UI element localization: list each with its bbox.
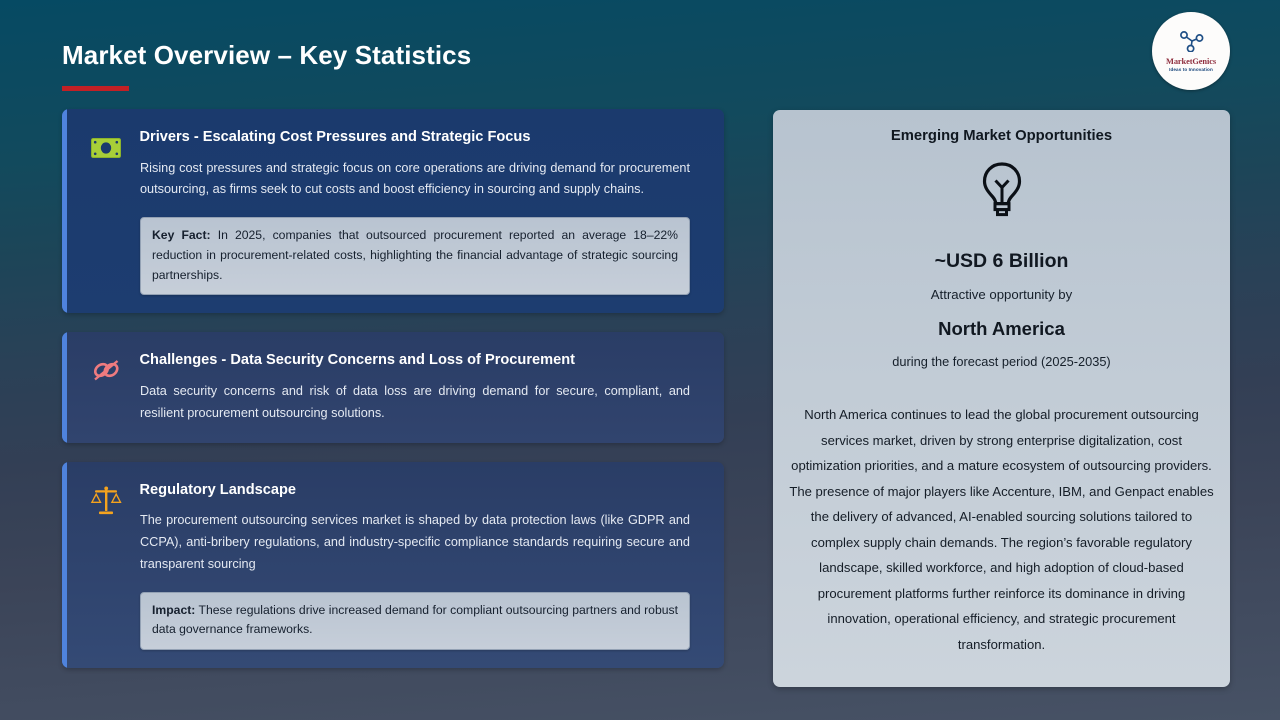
card-challenges[interactable]: Challenges - Data Security Concerns and … bbox=[62, 332, 724, 442]
panel-title: Emerging Market Opportunities bbox=[787, 128, 1216, 144]
brand-logo: MarketGenics Ideas to Innovation bbox=[1152, 12, 1230, 90]
card-body-text: Data security concerns and risk of data … bbox=[140, 381, 702, 425]
key-fact-callout: Key Fact: In 2025, companies that outsou… bbox=[140, 217, 690, 295]
card-accent-bar bbox=[62, 109, 67, 313]
card-body-text: The procurement outsourcing services mar… bbox=[140, 510, 702, 576]
panel-description: North America continues to lead the glob… bbox=[787, 402, 1216, 657]
logo-tagline: Ideas to Innovation bbox=[1169, 67, 1213, 72]
card-body-text: Rising cost pressures and strategic focu… bbox=[140, 158, 702, 202]
logo-brand-name: MarketGenics bbox=[1166, 58, 1216, 66]
forecast-period: during the forecast period (2025-2035) bbox=[787, 354, 1216, 369]
banknote-icon bbox=[88, 131, 124, 165]
card-heading: Regulatory Landscape bbox=[140, 482, 703, 500]
molecule-node-icon bbox=[1178, 30, 1204, 57]
card-regulatory[interactable]: Regulatory Landscape The procurement out… bbox=[62, 462, 724, 669]
callout-label: Impact: bbox=[152, 603, 195, 617]
card-heading: Drivers - Escalating Cost Pressures and … bbox=[140, 129, 703, 147]
card-accent-bar bbox=[62, 462, 67, 669]
scales-of-justice-icon bbox=[88, 484, 124, 518]
callout-label: Key Fact: bbox=[152, 228, 211, 242]
left-cards-column: Drivers - Escalating Cost Pressures and … bbox=[62, 109, 724, 687]
leading-region: North America bbox=[787, 318, 1216, 340]
page-title: Market Overview – Key Statistics bbox=[62, 40, 471, 71]
callout-text: These regulations drive increased demand… bbox=[152, 603, 678, 637]
card-drivers[interactable]: Drivers - Escalating Cost Pressures and … bbox=[62, 109, 724, 313]
impact-callout: Impact: These regulations drive increase… bbox=[140, 592, 690, 651]
card-accent-bar bbox=[62, 332, 67, 442]
lightbulb-icon bbox=[787, 161, 1216, 224]
callout-text: In 2025, companies that outsourced procu… bbox=[152, 228, 678, 282]
market-value: ~USD 6 Billion bbox=[787, 250, 1216, 273]
title-underline-rule bbox=[62, 86, 129, 91]
broken-link-icon bbox=[88, 354, 124, 388]
card-heading: Challenges - Data Security Concerns and … bbox=[140, 352, 703, 370]
market-value-caption: Attractive opportunity by bbox=[787, 287, 1216, 302]
emerging-opportunities-panel: Emerging Market Opportunities ~USD 6 Bil… bbox=[773, 110, 1230, 687]
